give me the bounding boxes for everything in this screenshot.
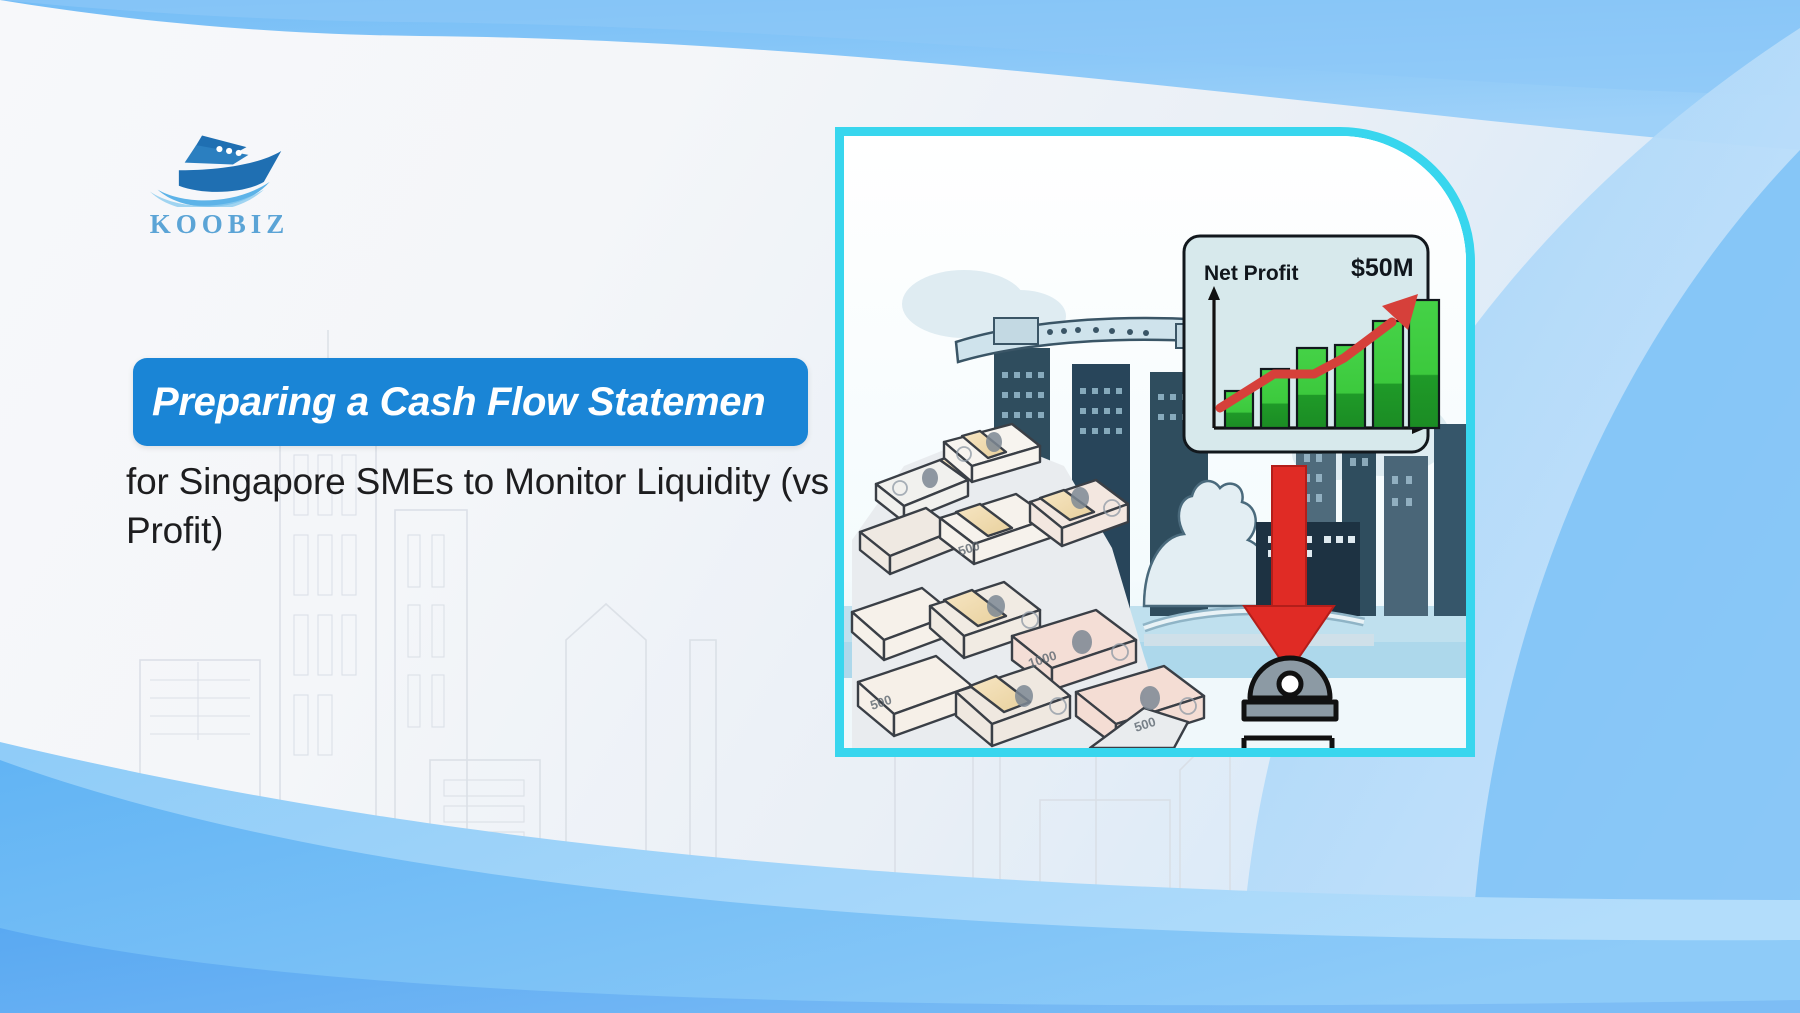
illustration-image: 500 1000 500 500 bbox=[844, 136, 1466, 748]
brand-logo[interactable]: KOOBIZ bbox=[112, 122, 322, 247]
illustration-scene: 500 1000 500 500 bbox=[844, 136, 1466, 748]
title-banner: Preparing a Cash Flow Statemen bbox=[133, 358, 808, 446]
chart-label: Net Profit bbox=[1204, 262, 1299, 286]
chart-value: $50M bbox=[1351, 254, 1414, 283]
page-title: Preparing a Cash Flow Statemen bbox=[152, 380, 765, 425]
brand-name: KOOBIZ bbox=[112, 209, 322, 240]
slide-canvas: KOOBIZ Preparing a Cash Flow Statemen fo… bbox=[0, 0, 1800, 1013]
illustration-frame: 500 1000 500 500 bbox=[835, 127, 1475, 757]
page-subtitle: for Singapore SMEs to Monitor Liquidity … bbox=[126, 457, 886, 555]
bar-3 bbox=[1297, 348, 1327, 428]
ship-logo-icon bbox=[140, 122, 295, 207]
bar-6 bbox=[1409, 300, 1439, 428]
